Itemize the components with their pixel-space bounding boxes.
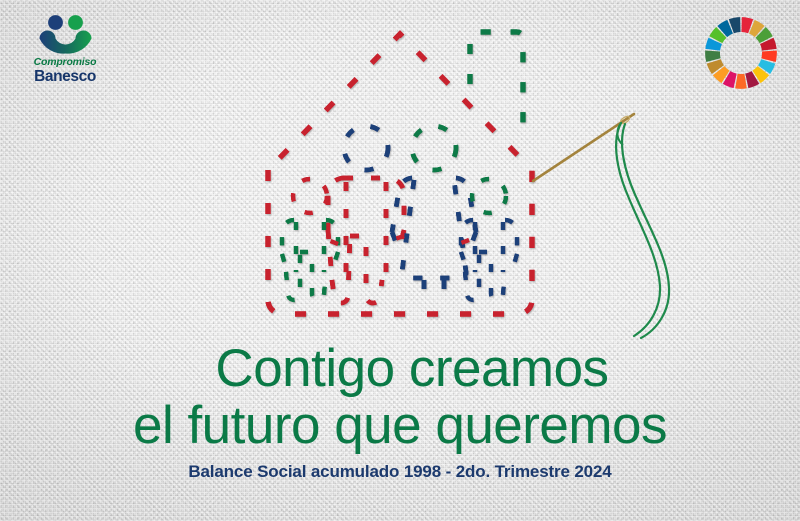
- linked-hands: [328, 236, 469, 244]
- headline-line-2: el futuro que queremos: [0, 397, 800, 454]
- thread-strand-2: [622, 124, 669, 338]
- figure-adult-man: [328, 126, 404, 303]
- subtitle: Balance Social acumulado 1998 - 2do. Tri…: [0, 462, 800, 482]
- figure-child-right: [461, 179, 517, 300]
- needle-and-thread: [533, 114, 669, 338]
- chimney-outline: [470, 32, 523, 133]
- embroidered-house-artwork: [0, 0, 800, 350]
- poster-canvas: Compromiso Banesco: [0, 0, 800, 521]
- page-title: Contigo creamos el futuro que queremos: [0, 340, 800, 454]
- headline-line-1: Contigo creamos: [0, 340, 800, 397]
